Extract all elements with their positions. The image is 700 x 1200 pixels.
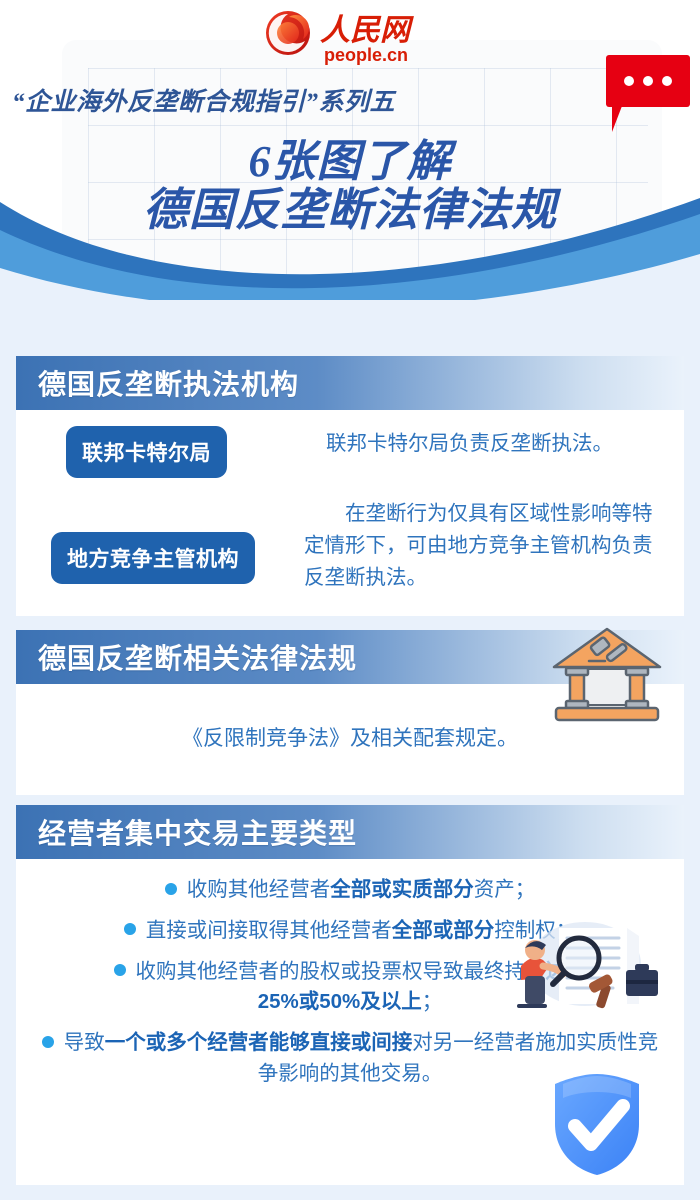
section-header-bar: 德国反垄断执法机构 (16, 356, 684, 410)
section-heading: 德国反垄断相关法律法规 (16, 637, 357, 677)
bullet-text-bold: 全部或实质部分 (330, 878, 474, 901)
enforcement-text-2: 在垄断行为仅具有区域性影响等特定情形下，可由地方竞争主管机构负责反垄断执法。 (304, 498, 656, 593)
bullet-dot-icon (165, 883, 177, 895)
content-area: 德国反垄断执法机构 联邦卡特尔局 地方竞争主管机构 联邦卡特尔局负责反垄断执法。… (0, 300, 700, 1200)
bullet-text-bold: 一个或多个经营者能够直接或间接 (105, 1031, 413, 1054)
pill-local-competition-authority[interactable]: 地方竞争主管机构 (51, 532, 255, 584)
shield-check-icon (543, 1068, 651, 1180)
header-banner: 人民网 people.cn “企业海外反垄断合规指引”系列五 6张图了解 德国反… (0, 0, 700, 300)
bullet-text-plain: 收购其他经营者 (187, 878, 331, 901)
bullet-text-bold: 全部或部分 (392, 919, 495, 942)
related-laws-text: 《反限制竞争法》及相关配套规定。 (182, 723, 518, 756)
svg-text:人民网: 人民网 (320, 13, 414, 48)
bullet-text-plain-2: 资产； (474, 878, 536, 901)
bullet-text-plain-3: ； (422, 990, 443, 1013)
series-subtitle: “企业海外反垄断合规指引”系列五 (12, 82, 395, 118)
list-item: 收购其他经营者全部或实质部分资产； (38, 875, 662, 906)
section-enforcement-agencies: 德国反垄断执法机构 联邦卡特尔局 地方竞争主管机构 联邦卡特尔局负责反垄断执法。… (16, 356, 684, 616)
document-magnifier-icon (487, 922, 662, 1012)
bullet-text-plain: 直接或间接取得其他经营者 (146, 919, 392, 942)
section-body: 联邦卡特尔局 地方竞争主管机构 联邦卡特尔局负责反垄断执法。 在垄断行为仅具有区… (16, 410, 684, 616)
bullet-text-bold-2: 25%或50%及以上 (258, 990, 422, 1013)
section-heading: 德国反垄断执法机构 (16, 363, 299, 403)
page-title-line1: 6张图了解 (0, 138, 700, 186)
speech-bubble-dots (606, 55, 690, 107)
people-cn-logo: 人民网 people.cn (262, 8, 442, 68)
pill-federal-cartel-office[interactable]: 联邦卡特尔局 (66, 426, 227, 478)
bullet-dot-icon (114, 964, 126, 976)
courthouse-gavel-icon (548, 625, 666, 723)
bullet-text-plain: 导致 (64, 1031, 105, 1054)
speech-bubble-tail (612, 106, 638, 132)
bullet-text-plain: 收购其他经营者的股权或投票权导致最终持股 (136, 960, 546, 983)
header-wave-decoration (0, 180, 700, 300)
logo-wordmark: people.cn (324, 45, 408, 65)
bullet-dot-icon (124, 923, 136, 935)
bullet-dot-icon (42, 1036, 54, 1048)
enforcement-text-1: 联邦卡特尔局负责反垄断执法。 (326, 428, 656, 460)
ellipsis-speech-bubble-icon (606, 55, 690, 107)
section-heading: 经营者集中交易主要类型 (16, 812, 357, 852)
section-header-bar: 经营者集中交易主要类型 (16, 805, 684, 859)
